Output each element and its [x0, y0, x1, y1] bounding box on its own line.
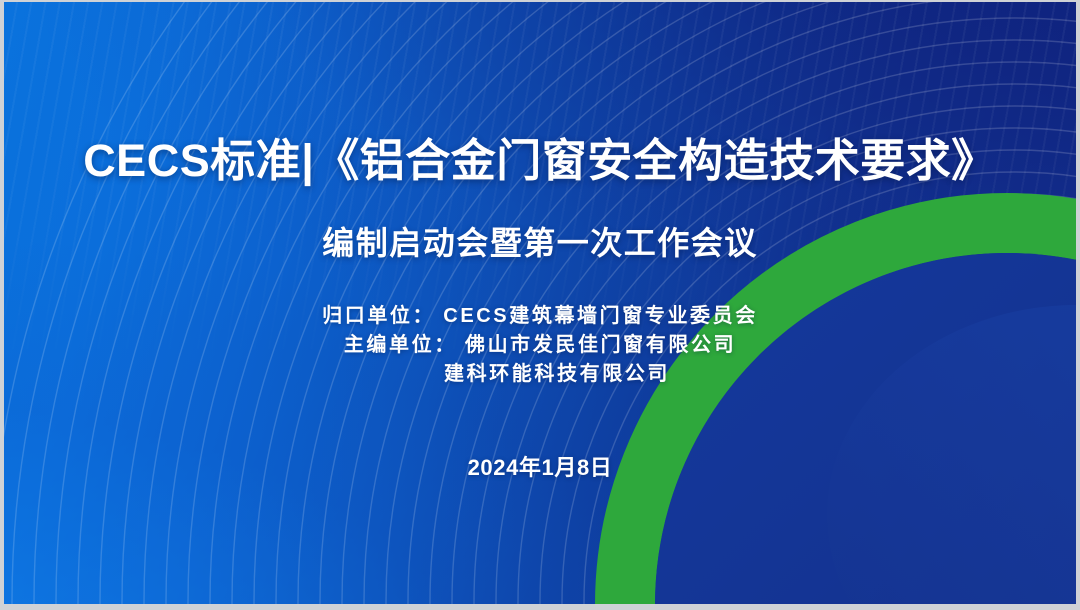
organization-block: 归口单位： CECS建筑幕墙门窗专业委员会 主编单位： 佛山市发民佳门窗有限公司…: [4, 302, 1076, 389]
page-title: CECS标准|《铝合金门窗安全构造技术要求》: [4, 138, 1076, 183]
organization-line-co-editor: 建科环能科技有限公司: [4, 360, 1076, 389]
organization-line-supervising: 归口单位： CECS建筑幕墙门窗专业委员会: [4, 302, 1076, 331]
slide-date: 2024年1月8日: [4, 450, 1076, 482]
page-subtitle: 编制启动会暨第一次工作会议: [4, 227, 1076, 259]
slide-canvas: CECS标准|《铝合金门窗安全构造技术要求》 编制启动会暨第一次工作会议 归口单…: [0, 0, 1080, 610]
slide-content: CECS标准|《铝合金门窗安全构造技术要求》 编制启动会暨第一次工作会议 归口单…: [4, 2, 1076, 604]
presentation-slide: CECS标准|《铝合金门窗安全构造技术要求》 编制启动会暨第一次工作会议 归口单…: [4, 2, 1076, 604]
organization-line-chief-editor: 主编单位： 佛山市发民佳门窗有限公司: [4, 331, 1076, 360]
